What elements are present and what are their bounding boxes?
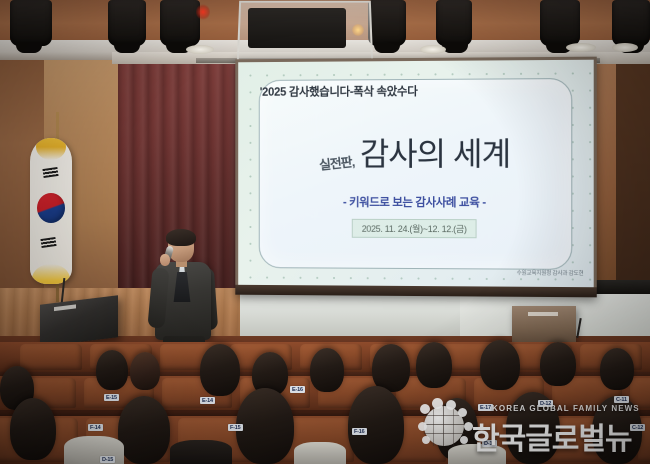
trigram-icon xyxy=(40,237,56,248)
projection-screen: '2025 감사했습니다-폭삭 속았수다 실전판, 감사의 세계 - 키워드로 … xyxy=(235,57,596,298)
projector-lens-icon xyxy=(352,24,364,36)
seat-label: F-14 xyxy=(88,424,103,431)
audience-shoulder xyxy=(294,442,346,464)
audience-head xyxy=(600,348,634,390)
audience-head xyxy=(480,340,520,390)
slide-date-range: 2025. 11. 24.(월)~12. 12.(금) xyxy=(352,219,477,238)
audience-head xyxy=(416,342,452,388)
recessed-ceiling-light xyxy=(612,43,638,52)
screen-surface: '2025 감사했습니다-폭삭 속았수다 실전판, 감사의 세계 - 키워드로 … xyxy=(238,60,593,288)
presentation-slide: '2025 감사했습니다-폭삭 속았수다 실전판, 감사의 세계 - 키워드로 … xyxy=(238,60,593,288)
slide-eyebrow-text: '2025 감사했습니다-폭삭 속았수다 xyxy=(260,83,418,100)
seat-label: E-15 xyxy=(104,394,119,401)
presenter-hair xyxy=(166,229,196,246)
slide-title-row: 실전판, 감사의 세계 xyxy=(238,128,593,175)
audience-head xyxy=(200,344,240,396)
presenter-hand xyxy=(160,254,170,266)
podium-nameplate xyxy=(528,312,558,316)
stage-spotlight-1 xyxy=(10,0,52,46)
screenshot-root: '2025 감사했습니다-폭삭 속았수다 실전판, 감사의 세계 - 키워드로 … xyxy=(0,0,650,464)
audience-head xyxy=(310,348,344,392)
audience-head xyxy=(540,342,576,386)
right-wall-shadow xyxy=(616,44,650,304)
watermark-english-text: KOREA GLOBAL FAMILY NEWS xyxy=(492,404,640,413)
recessed-ceiling-light xyxy=(420,45,446,54)
seat-label: F-16 xyxy=(352,428,367,435)
audience-head xyxy=(96,350,128,390)
stage-spotlight-5 xyxy=(436,0,472,46)
taegeuk-symbol-icon xyxy=(37,193,65,223)
recessed-ceiling-light xyxy=(186,45,214,54)
slide-credit-line: 수원교육지원청 감사과 감도현 xyxy=(517,269,584,277)
watermark: KOREA GLOBAL FAMILY NEWS 한국글로벌뉴스 xyxy=(418,392,650,458)
slide-subtitle: - 키워드로 보는 감사사례 교육 - xyxy=(238,194,593,211)
ceiling-projector xyxy=(248,8,346,48)
korean-national-flag-taegeukgi xyxy=(30,138,72,284)
people-icon xyxy=(418,398,476,450)
recessed-ceiling-light xyxy=(566,43,596,52)
seat-back xyxy=(20,344,82,370)
audience-head xyxy=(10,398,56,460)
audience-head xyxy=(130,352,160,390)
audience-head xyxy=(236,388,294,464)
seat-label: D-15 xyxy=(100,456,115,463)
flag-fringe-top xyxy=(36,138,66,160)
stage-spotlight-3 xyxy=(160,0,200,46)
stage-spotlight-7 xyxy=(612,0,650,46)
audience-shoulder xyxy=(170,440,232,464)
seat-label: E-16 xyxy=(290,386,305,393)
trigram-icon xyxy=(42,167,58,178)
audience-head xyxy=(348,386,404,464)
stage-spotlight-6 xyxy=(540,0,580,46)
watermark-korean-text: 한국글로벌뉴스 xyxy=(472,414,650,464)
slide-title-prefix: 실전판, xyxy=(318,151,355,174)
slide-title-main: 감사의 세계 xyxy=(360,129,510,175)
stage-spotlight-2 xyxy=(108,0,146,46)
audience-head xyxy=(118,396,170,464)
seat-label: F-15 xyxy=(228,424,243,431)
stage-spotlight-4 xyxy=(368,0,406,46)
audience-head xyxy=(372,344,410,392)
podium-lectern xyxy=(512,306,576,346)
seat-label: E-14 xyxy=(200,397,215,404)
